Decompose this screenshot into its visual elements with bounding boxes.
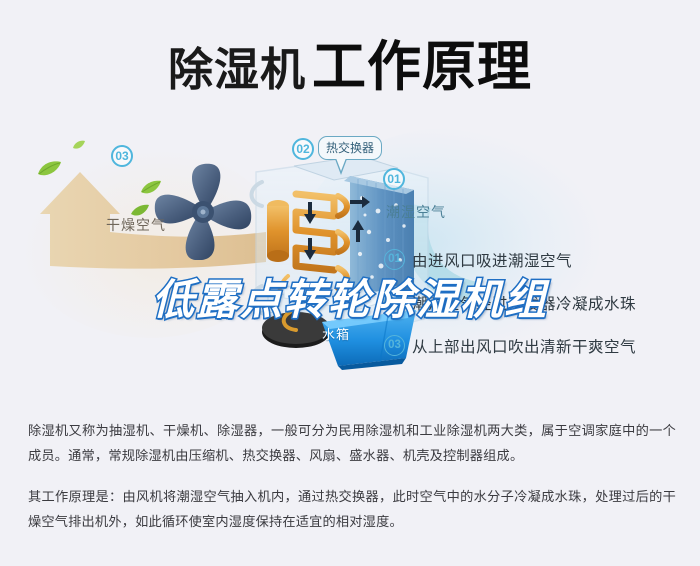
page-title-part2: 工作原理: [312, 37, 532, 97]
badge-01: 01: [383, 168, 405, 190]
dry-air-label: 干燥空气: [106, 215, 166, 235]
step-number: 01: [384, 249, 405, 270]
badge-02: 02: [292, 138, 314, 160]
leaf-icon: [72, 140, 86, 150]
paragraph-2: 其工作原理是：由风机将潮湿空气抽入机内，通过热交换器，此时空气中的水分子冷凝成水…: [28, 484, 676, 534]
step-text: 潮湿空气经过蒸发器冷凝成水珠: [412, 292, 636, 314]
page-title-part1: 除湿机: [168, 44, 306, 95]
step-number: 03: [384, 335, 405, 356]
humid-air-label: 潮湿空气: [386, 202, 446, 222]
list-item: 02 潮湿空气经过蒸发器冷凝成水珠: [384, 288, 684, 317]
description-block: 除湿机又称为抽湿机、干燥机、除湿器，一般可分为民用除湿机和工业除湿机两大类，属于…: [28, 418, 676, 534]
badge-03: 03: [111, 145, 133, 167]
poster-root: 除湿机工作原理: [0, 0, 700, 566]
list-item: 03 从上部出风口吹出清新干爽空气: [384, 331, 684, 360]
heat-exchanger-callout: 热交换器: [318, 136, 382, 160]
step-text: 由进风口吸进潮湿空气: [412, 249, 572, 271]
water-tank-label: 水箱: [322, 324, 350, 343]
step-number: 02: [384, 292, 405, 313]
step-text: 从上部出风口吹出清新干爽空气: [412, 335, 636, 357]
leaf-icon: [36, 160, 62, 178]
step-list: 01 由进风口吸进潮湿空气 02 潮湿空气经过蒸发器冷凝成水珠 03 从上部出风…: [384, 245, 684, 374]
list-item: 01 由进风口吸进潮湿空气: [384, 245, 684, 274]
paragraph-1: 除湿机又称为抽湿机、干燥机、除湿器，一般可分为民用除湿机和工业除湿机两大类，属于…: [28, 418, 676, 468]
page-title: 除湿机工作原理: [0, 22, 700, 101]
